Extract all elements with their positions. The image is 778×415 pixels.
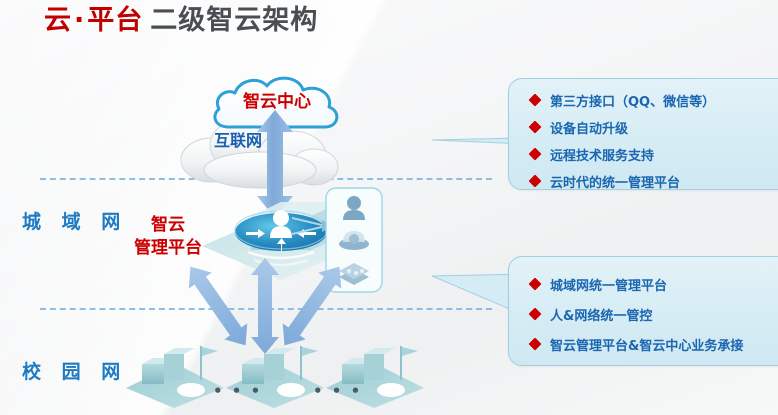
callout-item-text: 智云管理平台&智云中心业务承接 [550,335,743,354]
list-item: 设备自动升级 [530,116,715,138]
title-brand-part1: 云 [44,5,72,36]
callout-item-text: 人&网络统一管控 [550,305,652,324]
title-separator-dot: · [72,5,87,36]
callout-list-2: 城域网统一管理平台 人&网络统一管控 智云管理平台&智云中心业务承接 [530,273,743,363]
callout-item-text: 设备自动升级 [550,118,628,137]
list-item: 云时代的统一管理平台 [530,170,715,192]
zone-label-metro: 城 域 网 [22,207,127,234]
title-subtitle: 二级智云架构 [150,5,318,36]
diamond-bullet-icon [528,120,541,133]
campus-ellipsis-2: • • • [313,382,362,400]
callout-list-1: 第三方接口（QQ、微信等） 设备自动升级 远程技术服务支持 云时代的统一管理平台 [530,89,715,197]
campus-ellipsis-1: • • • [213,382,262,400]
zone-label-campus: 校 园 网 [22,357,127,384]
list-item: 第三方接口（QQ、微信等） [530,89,715,111]
callout-item-text: 第三方接口（QQ、微信等） [550,91,715,110]
diamond-bullet-icon [528,93,541,106]
platform-label-line1: 智云 [151,215,185,235]
campus-node-row [124,342,424,408]
internet-cloud-label: 互联网 [183,127,293,151]
callout-item-text: 城域网统一管理平台 [550,275,667,294]
slide-canvas: 云·平台二级智云架构 城 域 网 校 园 网 互联网 [0,0,778,415]
platform-label: 智云 管理平台 [120,214,216,260]
platform-label-line2: 管理平台 [134,238,202,258]
diamond-bullet-icon [528,337,541,350]
arrows-platform-to-campus [150,258,380,354]
callout-item-text: 云时代的统一管理平台 [550,172,680,191]
callout-metro-platform: 城域网统一管理平台 人&网络统一管控 智云管理平台&智云中心业务承接 [432,256,778,364]
page-title: 云·平台二级智云架构 [44,4,318,38]
diamond-bullet-icon [528,174,541,187]
diamond-bullet-icon [528,147,541,160]
callout-item-text: 远程技术服务支持 [550,145,654,164]
smart-cloud-label: 智云中心 [207,87,347,112]
title-brand-part2: 平台 [87,5,143,36]
list-item: 远程技术服务支持 [530,143,715,165]
diamond-bullet-icon [528,307,541,320]
callout-cloud-center: 第三方接口（QQ、微信等） 设备自动升级 远程技术服务支持 云时代的统一管理平台 [432,78,778,188]
list-item: 城域网统一管理平台 [530,273,743,295]
list-item: 智云管理平台&智云中心业务承接 [530,333,743,355]
campus-building-1 [126,346,224,408]
diamond-bullet-icon [528,277,541,290]
list-item: 人&网络统一管控 [530,303,743,325]
